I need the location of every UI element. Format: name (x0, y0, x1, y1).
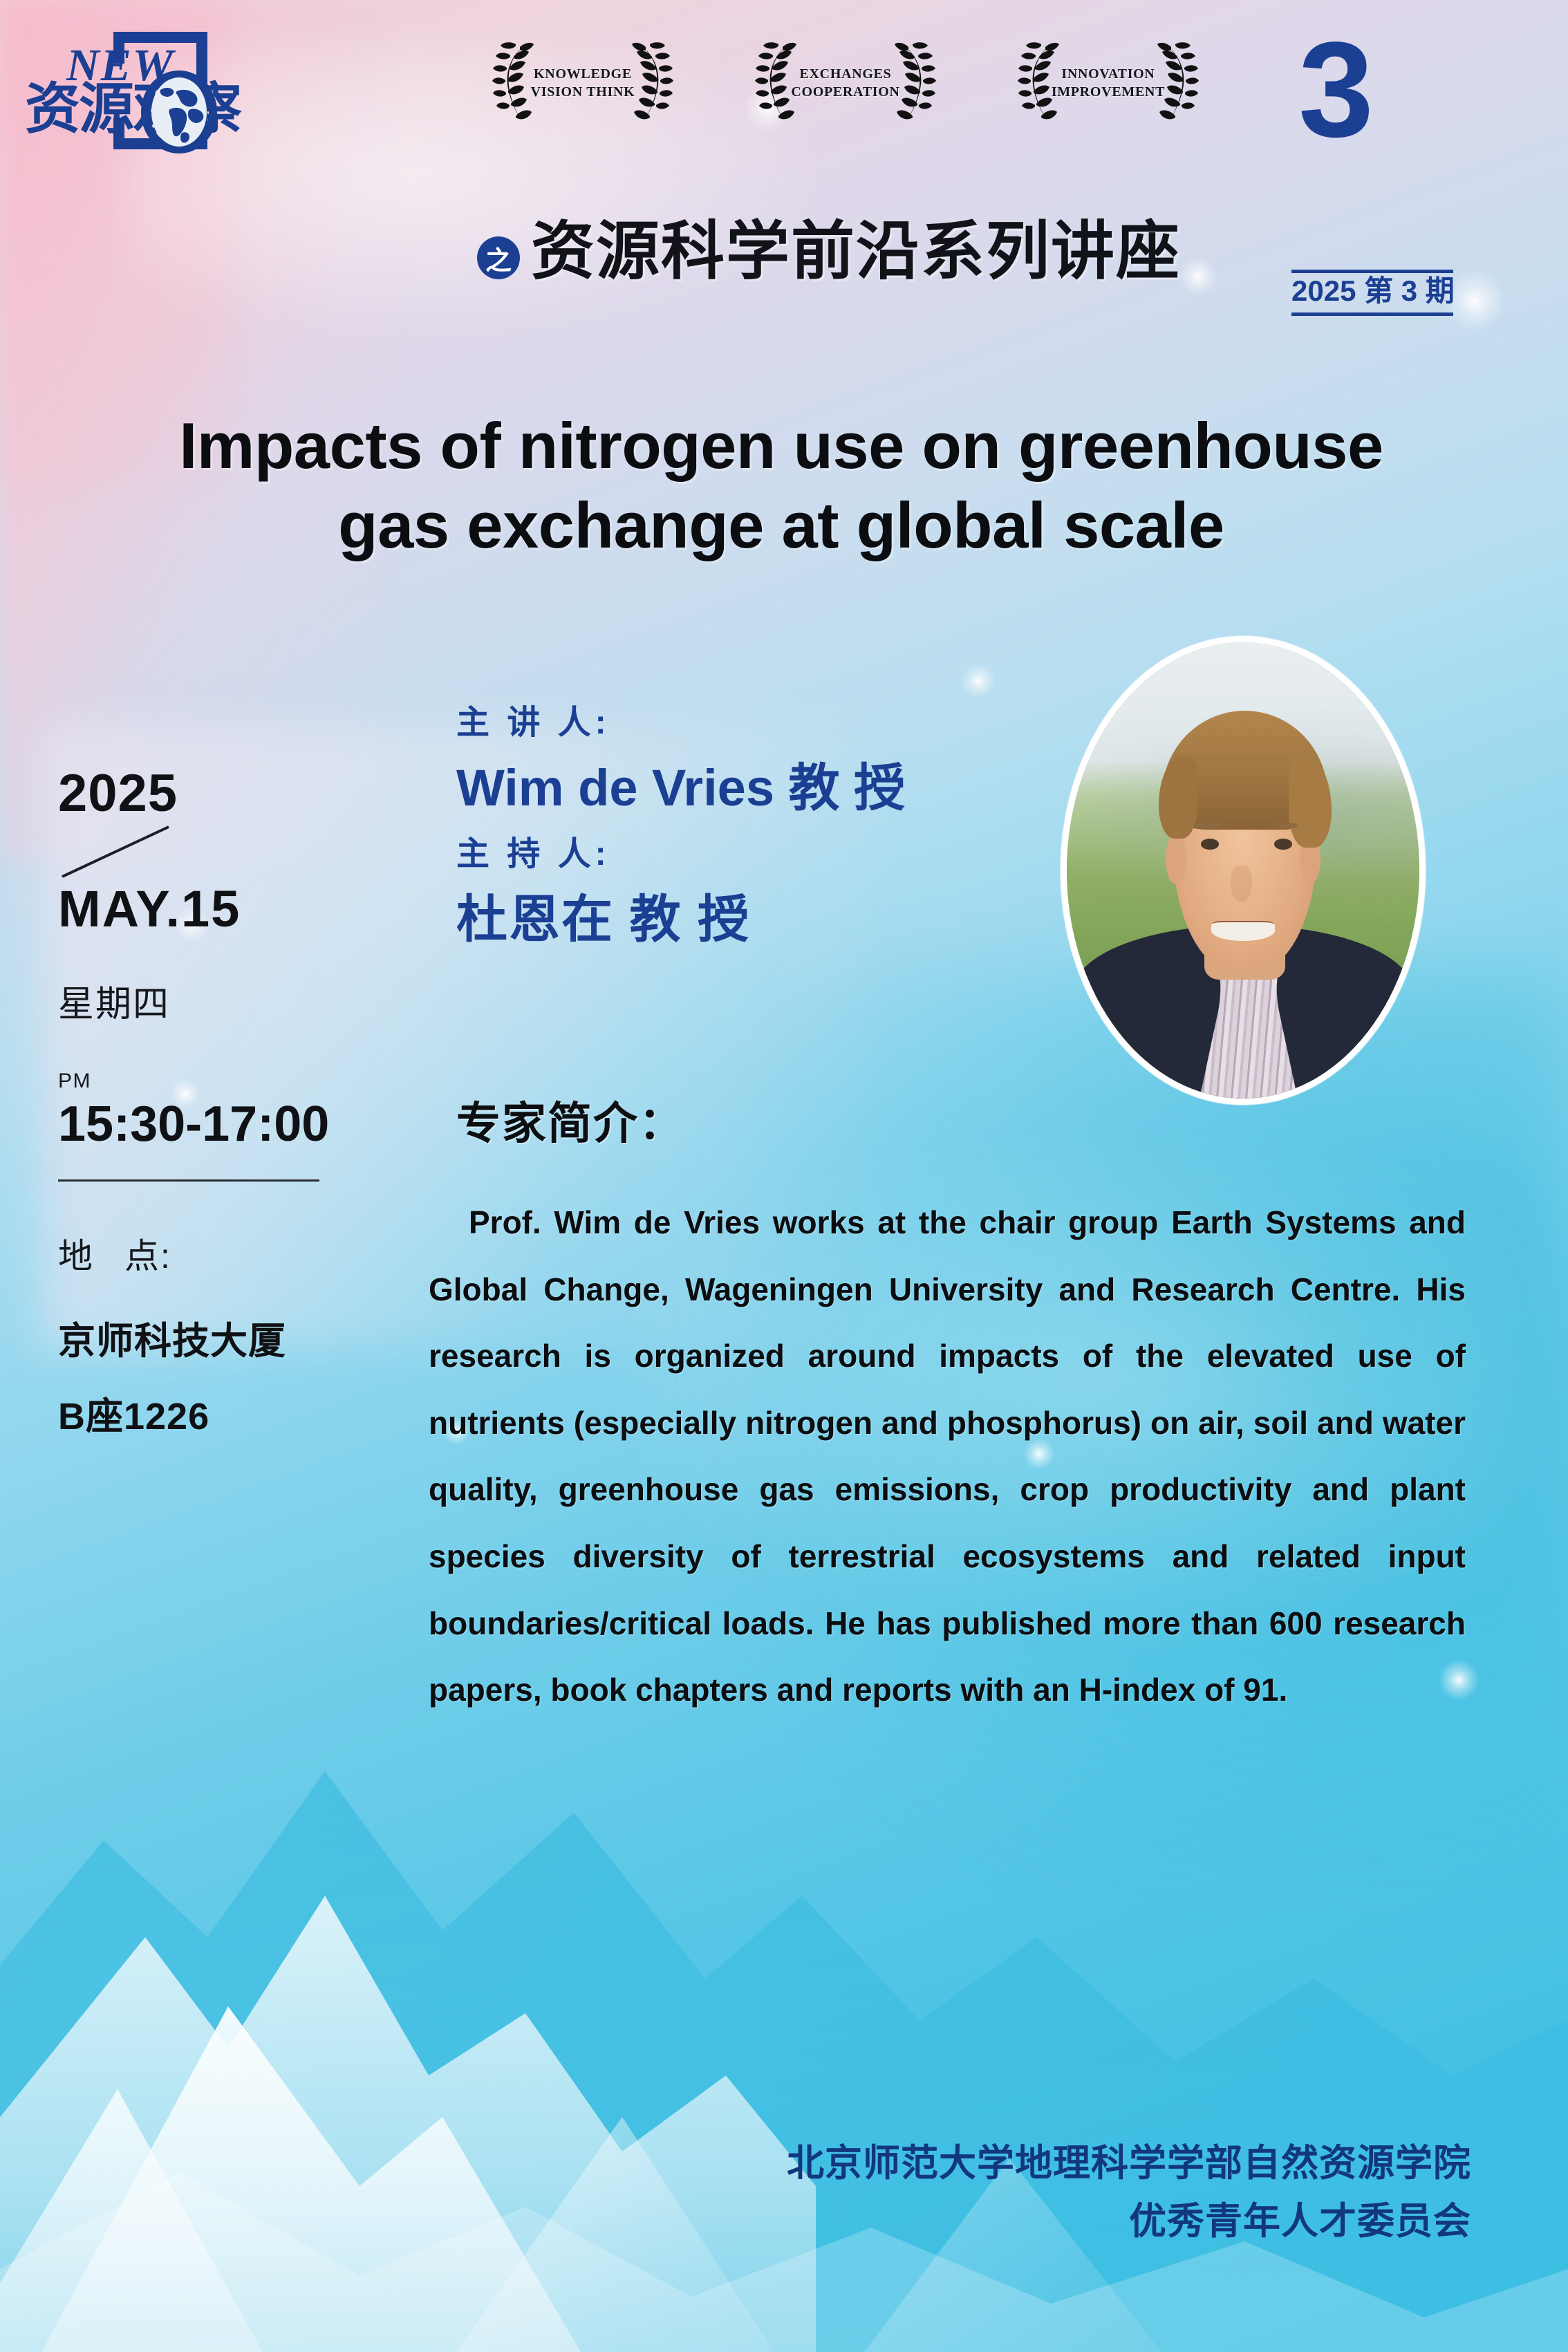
portrait-ear-left (1166, 834, 1187, 884)
laurel-wreath-icon (1156, 40, 1199, 124)
portrait-eye-right (1274, 839, 1293, 850)
location-building: 京师科技大厦 (58, 1310, 348, 1365)
laurel-wreath-icon (893, 40, 936, 124)
portrait-nose (1231, 866, 1252, 902)
bio-heading: 专家简介： (456, 1088, 684, 1152)
location-label-char1: 地 (58, 1237, 94, 1276)
seminar-poster: NEW 资源观察 (0, 0, 1568, 2352)
issue-rule-bottom (1291, 312, 1453, 316)
globe-icon (137, 66, 221, 158)
speaker-portrait (1061, 636, 1426, 1105)
speaker-block: 主 讲 人: Wim de Vries 教 授 主 持 人: 杜恩在 教 授 (456, 705, 1120, 947)
page-title-line-2: gas exchange at global scale (104, 486, 1459, 566)
organizer-line-2: 优秀青年人才委员会 (0, 2193, 1471, 2251)
location-label: 地点: (58, 1229, 348, 1278)
poster-header: NEW 资源观察 (0, 0, 1568, 332)
series-title-text: 资源科学前沿系列讲座 (531, 220, 1181, 283)
event-ampm: PM (58, 1070, 348, 1093)
badge-exchanges: EXCHANGES COOPERATION (752, 40, 939, 130)
page-title: Impacts of nitrogen use on greenhouse ga… (104, 407, 1459, 565)
portrait-eyebrow-left (1195, 823, 1220, 829)
event-time-range: 15:30-17:00 (58, 1099, 348, 1151)
event-weekday: 星期四 (58, 975, 348, 1027)
zhi-badge: 之 (477, 236, 520, 279)
portrait-eye-left (1201, 839, 1220, 850)
host-name: 杜恩在 教 授 (456, 891, 1120, 947)
location-label-char2: 点: (124, 1237, 171, 1276)
event-month-day: MAY.15 (58, 882, 348, 936)
bio-text: Prof. Wim de Vries works at the chair gr… (429, 1189, 1466, 1724)
event-year: 2025 (58, 767, 348, 820)
series-heading: 之 资源科学前沿系列讲座 (477, 220, 1181, 283)
issue-number: 3 (1298, 28, 1371, 152)
section-divider (58, 1179, 319, 1182)
organizer-footer: 北京师范大学地理科学学部自然资源学院 优秀青年人才委员会 (0, 2135, 1471, 2250)
speaker-label: 主 讲 人: (456, 705, 1120, 742)
location-room: B座1226 (58, 1385, 348, 1440)
event-details-column: 2025 MAY.15 星期四 PM 15:30-17:00 地点: 京师科技大… (58, 767, 348, 1440)
speaker-name: Wim de Vries 教 授 (456, 760, 1120, 816)
host-label: 主 持 人: (456, 837, 1120, 873)
page-title-line-1: Impacts of nitrogen use on greenhouse (104, 407, 1459, 486)
issue-label: 2025 第 3 期 (1291, 271, 1453, 311)
organizer-line-1: 北京师范大学地理科学学部自然资源学院 (0, 2135, 1471, 2193)
laurel-wreath-icon (631, 40, 673, 124)
badge-innovation: INNOVATION IMPROVEMENT (1015, 40, 1202, 130)
date-slash-divider (58, 823, 183, 881)
portrait-eyebrow-right (1273, 823, 1298, 829)
badge-knowledge: KNOWLEDGE VISION THINK (489, 40, 676, 130)
